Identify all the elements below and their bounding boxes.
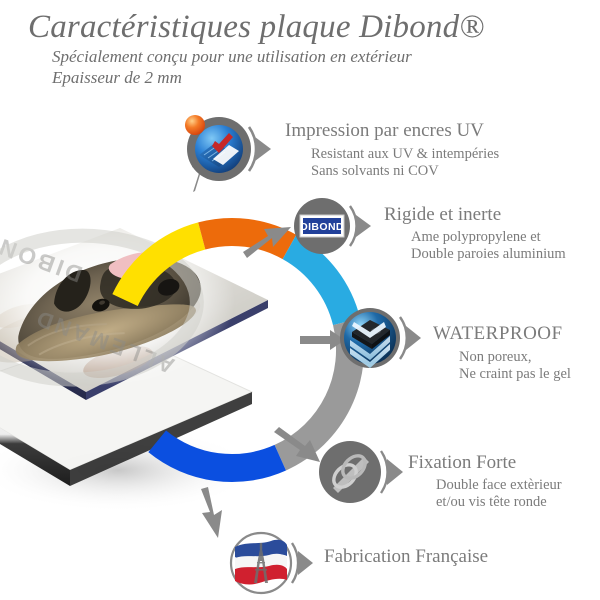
feature-line-uv-2: Sans solvants ni COV — [311, 163, 439, 180]
french-flag-eiffel-icon — [231, 533, 313, 593]
feature-title-strong-fixing: Fixation Forte — [408, 452, 516, 474]
page-title: Caractéristiques plaque Dibond® — [28, 8, 485, 46]
infographic-canvas: DIBOND ALLEMAND — [0, 0, 600, 600]
feature-line-rigid-2: Double paroies aluminium — [411, 246, 566, 263]
page-subtitle-1: Spécialement conçu pour une utilisation … — [52, 47, 412, 67]
feature-line-fixing-2: et/ou vis tête ronde — [436, 494, 547, 511]
feature-line-waterproof-2: Ne craint pas le gel — [459, 366, 571, 383]
waterproof-layers-icon — [340, 308, 421, 368]
feature-title-waterproof: WATERPROOF — [433, 323, 563, 345]
uv-sun-glyph — [185, 115, 205, 135]
feature-title-french-manufacturing: Fabrication Française — [324, 546, 488, 568]
feature-line-uv-1: Resistant aux UV & intempéries — [311, 146, 499, 163]
feature-line-waterproof-1: Non poreux, — [459, 349, 532, 366]
feature-line-rigid-1: Ame polypropylene et — [411, 229, 541, 246]
page-subtitle-2: Epaisseur de 2 mm — [52, 68, 182, 88]
dibond-logo-text: DIBOND — [300, 221, 344, 233]
dibond-logo-icon: DIBOND — [294, 198, 371, 254]
screw-fixing-icon — [319, 441, 403, 503]
feature-title-uv-printing: Impression par encres UV — [285, 120, 484, 142]
uv-ink-globe-icon — [185, 115, 271, 181]
feature-title-rigid-inert: Rigide et inerte — [384, 204, 501, 226]
feature-line-fixing-1: Double face extèrieur — [436, 477, 562, 494]
